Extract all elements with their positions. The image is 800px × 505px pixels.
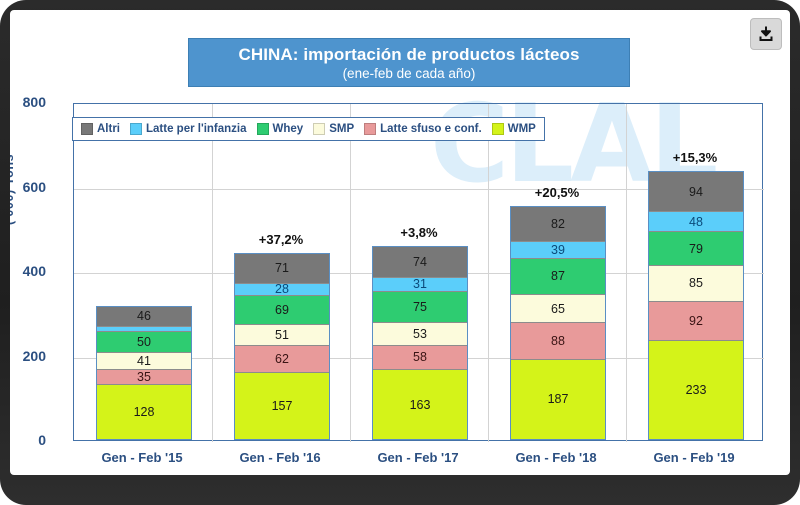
bar-segment-value: 128: [134, 405, 155, 419]
legend-label: Latte per l'infanzia: [146, 123, 247, 135]
category-separator: [488, 104, 489, 442]
bar-segment[interactable]: 50: [97, 332, 191, 353]
growth-annotation: +15,3%: [648, 150, 742, 165]
bar-segment[interactable]: 187: [511, 360, 605, 439]
category-separator: [626, 104, 627, 442]
bar-segment-value: 28: [275, 284, 289, 296]
legend-swatch-icon: [313, 123, 325, 135]
y-axis-tick: 800: [10, 94, 46, 110]
bar-segment[interactable]: 92: [649, 302, 743, 341]
bar-segment-value: 85: [689, 276, 703, 290]
legend-label: Altri: [97, 123, 120, 135]
bar-segment-value: 92: [689, 314, 703, 328]
bar-segment-value: 75: [413, 300, 427, 314]
legend-item[interactable]: SMP: [313, 123, 354, 135]
legend-swatch-icon: [364, 123, 376, 135]
bar-group[interactable]: 9448798592233+15,3%: [648, 102, 742, 440]
bar-segment[interactable]: 69: [235, 296, 329, 325]
stacked-bar[interactable]: 9448798592233: [648, 171, 744, 440]
bar-segment[interactable]: 35: [97, 370, 191, 385]
chart-screen: CLAL CHINA: importación de productos lác…: [10, 10, 790, 475]
bar-segment[interactable]: 65: [511, 295, 605, 322]
chart-legend[interactable]: AltriLatte per l'infanziaWheySMPLatte sf…: [72, 117, 545, 141]
bar-group[interactable]: 7431755358163+3,8%: [372, 102, 466, 440]
stacked-bar[interactable]: 7128695162157: [234, 253, 330, 440]
x-axis-tick: Gen - Feb '17: [349, 450, 487, 465]
bar-group[interactable]: 7128695162157+37,2%: [234, 102, 328, 440]
bar-segment[interactable]: 128: [97, 385, 191, 439]
legend-swatch-icon: [257, 123, 269, 135]
x-axis-tick: Gen - Feb '15: [73, 450, 211, 465]
bar-segment-value: 79: [689, 242, 703, 256]
bar-segment[interactable]: 46: [97, 307, 191, 326]
category-separator: [350, 104, 351, 442]
category-separator: [212, 104, 213, 442]
bar-segment[interactable]: 85: [649, 266, 743, 302]
bar-segment[interactable]: 39: [511, 242, 605, 258]
growth-annotation: +20,5%: [510, 185, 604, 200]
growth-annotation: +3,8%: [372, 225, 466, 240]
x-axis-tick: Gen - Feb '19: [625, 450, 763, 465]
legend-swatch-icon: [492, 123, 504, 135]
bar-segment-value: 41: [137, 354, 151, 368]
legend-label: SMP: [329, 123, 354, 135]
bar-segment[interactable]: 48: [649, 212, 743, 232]
bar-segment[interactable]: 88: [511, 323, 605, 360]
bar-segment-value: 187: [548, 392, 569, 406]
legend-item[interactable]: Altri: [81, 123, 120, 135]
legend-swatch-icon: [130, 123, 142, 135]
y-axis-tick: 0: [10, 432, 46, 448]
bar-segment-value: 51: [275, 328, 289, 342]
bar-segment[interactable]: 82: [511, 207, 605, 242]
bar-group[interactable]: 8239876588187+20,5%: [510, 102, 604, 440]
bar-segment-value: 233: [686, 383, 707, 397]
stacked-bar[interactable]: 8239876588187: [510, 206, 606, 440]
bar-segment[interactable]: 87: [511, 259, 605, 296]
bar-segment-value: 58: [413, 350, 427, 364]
bar-segment-value: 53: [413, 327, 427, 341]
legend-item[interactable]: WMP: [492, 123, 536, 135]
legend-label: Whey: [273, 123, 304, 135]
bar-segment[interactable]: 157: [235, 373, 329, 439]
bar-segment-value: 94: [689, 185, 703, 199]
bar-segment-value: 48: [689, 215, 703, 229]
bar-segment[interactable]: 163: [373, 370, 467, 439]
bar-segment[interactable]: 233: [649, 341, 743, 439]
bar-segment-value: 87: [551, 269, 565, 283]
bar-segment[interactable]: 75: [373, 292, 467, 324]
bar-segment[interactable]: 71: [235, 254, 329, 284]
stacked-bar[interactable]: 46504135128: [96, 306, 192, 440]
bar-segment-value: 82: [551, 217, 565, 231]
bar-segment-value: 88: [551, 334, 565, 348]
legend-label: WMP: [508, 123, 536, 135]
bar-segment-value: 65: [551, 302, 565, 316]
x-axis-tick: Gen - Feb '18: [487, 450, 625, 465]
bar-segment[interactable]: 62: [235, 346, 329, 372]
download-icon: [757, 25, 775, 43]
bar-segment-value: 157: [272, 399, 293, 413]
bar-segment-value: 71: [275, 261, 289, 275]
bar-segment[interactable]: 28: [235, 284, 329, 296]
page-title: CHINA: importación de productos lácteos: [189, 44, 629, 65]
growth-annotation: +37,2%: [234, 232, 328, 247]
y-axis-tick: 200: [10, 348, 46, 364]
bar-segment[interactable]: 51: [235, 325, 329, 347]
legend-item[interactable]: Latte per l'infanzia: [130, 123, 247, 135]
legend-label: Latte sfuso e conf.: [380, 123, 482, 135]
legend-item[interactable]: Whey: [257, 123, 304, 135]
bar-segment-value: 74: [413, 255, 427, 269]
chart-title-banner: CHINA: importación de productos lácteos …: [188, 38, 630, 87]
bar-segment[interactable]: 31: [373, 278, 467, 291]
legend-item[interactable]: Latte sfuso e conf.: [364, 123, 482, 135]
device-frame: CLAL CHINA: importación de productos lác…: [0, 0, 800, 505]
bar-segment-value: 69: [275, 303, 289, 317]
bar-segment[interactable]: 41: [97, 353, 191, 370]
bar-segment-value: 39: [551, 243, 565, 257]
plot-area: 465041351287128695162157+37,2%7431755358…: [73, 103, 763, 441]
bar-segment-value: 46: [137, 309, 151, 323]
bar-segment-value: 35: [137, 370, 151, 384]
bar-segment[interactable]: 79: [649, 232, 743, 265]
bar-segment[interactable]: 53: [373, 323, 467, 345]
bar-segment-value: 62: [275, 352, 289, 366]
page-subtitle: (ene-feb de cada año): [189, 65, 629, 83]
bar-segment-value: 163: [410, 398, 431, 412]
y-axis-tick: 400: [10, 263, 46, 279]
x-axis-tick: Gen - Feb '16: [211, 450, 349, 465]
bar-segment-value: 31: [413, 278, 427, 291]
bar-segment[interactable]: 74: [373, 247, 467, 278]
y-axis-tick: 600: [10, 179, 46, 195]
stacked-bar[interactable]: 7431755358163: [372, 246, 468, 440]
legend-swatch-icon: [81, 123, 93, 135]
bar-group[interactable]: 46504135128: [96, 102, 190, 440]
download-button[interactable]: [750, 18, 782, 50]
bar-segment[interactable]: 58: [373, 346, 467, 371]
bar-segment-value: 50: [137, 335, 151, 349]
bar-segment[interactable]: 94: [649, 172, 743, 212]
plot-inner: 465041351287128695162157+37,2%7431755358…: [74, 104, 762, 440]
